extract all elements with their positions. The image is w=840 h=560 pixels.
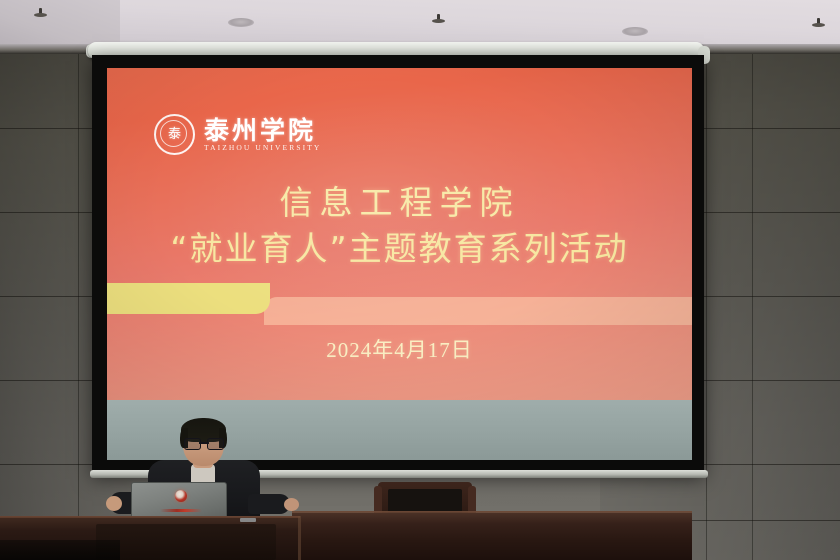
conference-desk [292,513,692,560]
slide-accent-band-peach [264,297,692,325]
eyeglasses-icon [184,438,224,448]
laptop-sticker-icon [175,490,187,502]
laptop-accent-stripe [160,509,202,512]
slide-title-block: 信息工程学院 “就业育人”主题教育系列活动 [107,184,692,269]
slide-title-line-1: 信息工程学院 [107,184,692,223]
speaker-hand [284,498,299,511]
speaker-hand [106,496,122,511]
recessed-downlight-icon [622,27,648,36]
recessed-downlight-icon [228,18,254,27]
university-name-en: TAIZHOU UNIVERSITY [204,144,321,152]
sprinkler-head-icon [812,18,825,29]
university-emblem-icon: 泰 [154,114,195,155]
desk-joint [298,516,301,560]
phone-on-desk [240,518,256,522]
projection-screen-surface: 泰 泰州学院 TAIZHOU UNIVERSITY 信息工程学院 “就业育人”主… [107,68,692,460]
slide-title-line-2: “就业育人”主题教育系列活动 [107,229,692,269]
sprinkler-head-icon [432,14,445,25]
sprinkler-head-icon [34,8,47,19]
slide-date: 2024年4月17日 [107,334,692,364]
university-name-cn: 泰州学院 [204,118,321,143]
emblem-glyph: 泰 [168,128,181,141]
university-logo: 泰 泰州学院 TAIZHOU UNIVERSITY [154,114,321,155]
presentation-slide: 泰 泰州学院 TAIZHOU UNIVERSITY 信息工程学院 “就业育人”主… [107,68,692,400]
slide-accent-band-yellow [107,283,270,314]
foreground-shadow [0,540,120,560]
podium-front-panel [96,524,276,560]
lecture-hall-photo: 泰 泰州学院 TAIZHOU UNIVERSITY 信息工程学院 “就业育人”主… [0,0,840,560]
university-logo-text: 泰州学院 TAIZHOU UNIVERSITY [204,118,321,152]
